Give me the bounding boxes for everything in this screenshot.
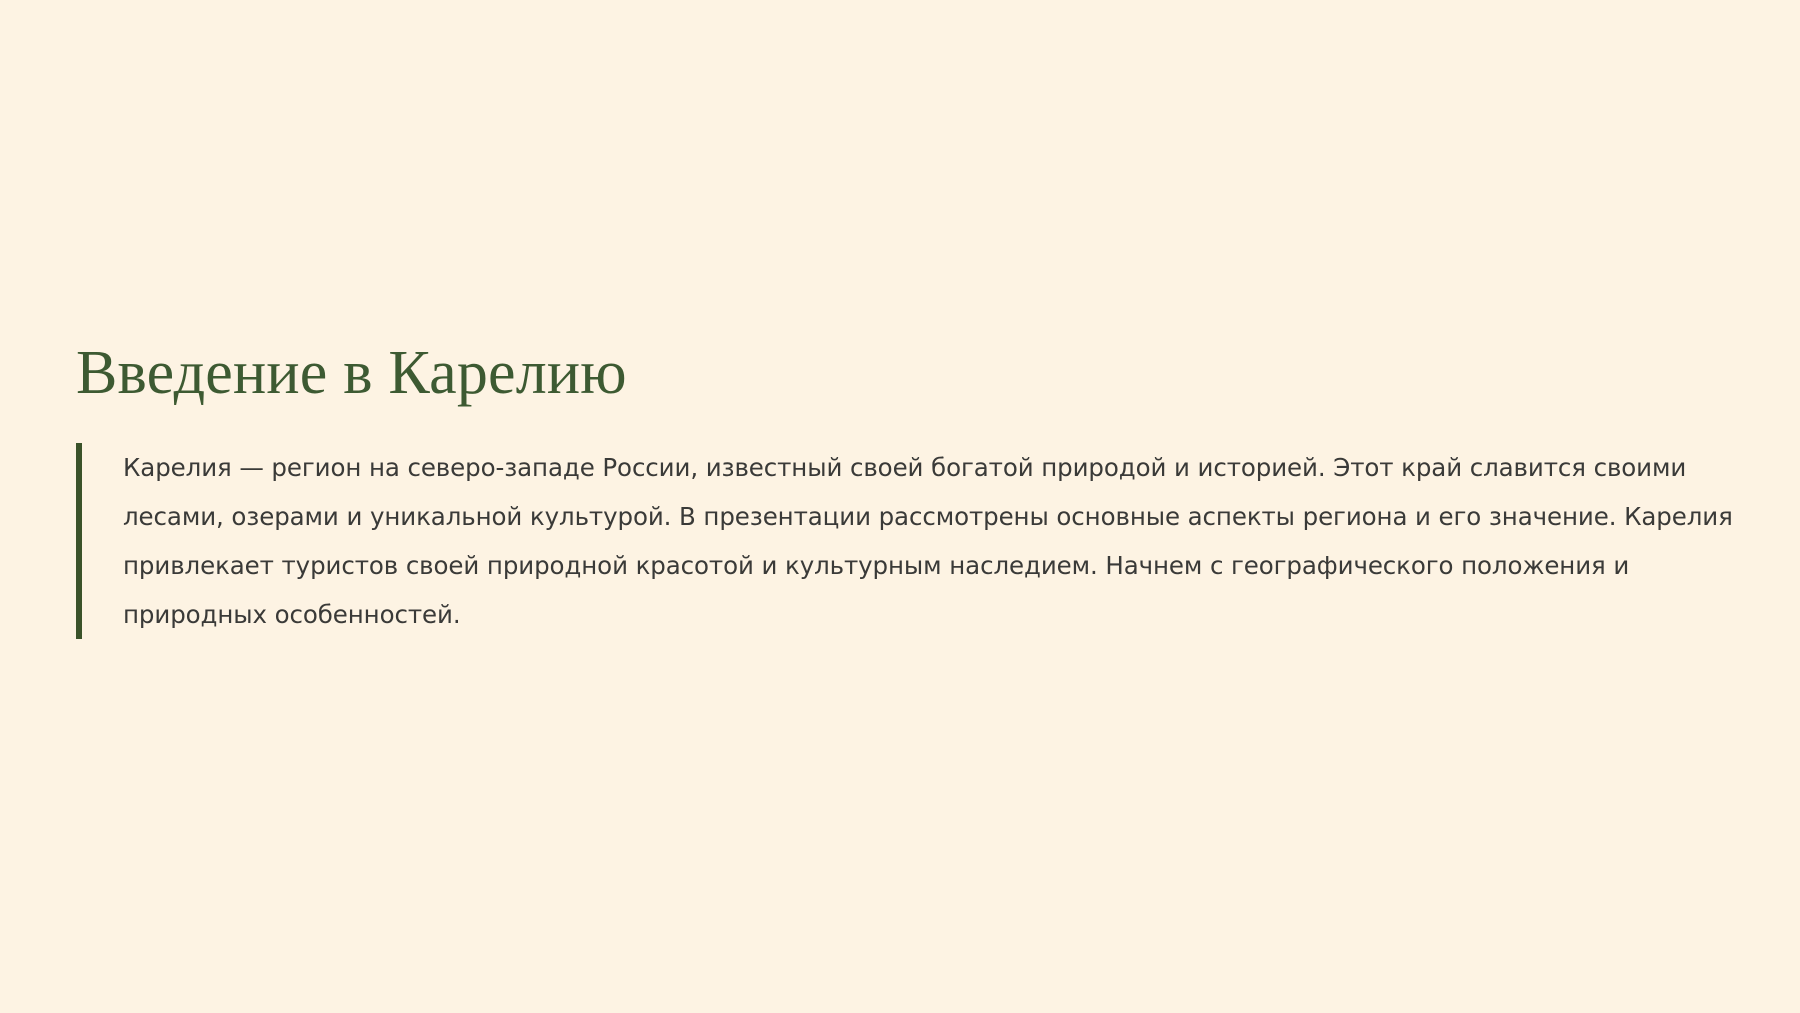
body-callout: Карелия — регион на северо-западе России… bbox=[76, 443, 1736, 639]
page-title: Введение в Карелию bbox=[76, 340, 1736, 407]
body-paragraph: Карелия — регион на северо-западе России… bbox=[82, 443, 1736, 639]
slide-canvas: Введение в Карелию Карелия — регион на с… bbox=[0, 0, 1800, 1013]
slide-content: Введение в Карелию Карелия — регион на с… bbox=[76, 340, 1736, 639]
